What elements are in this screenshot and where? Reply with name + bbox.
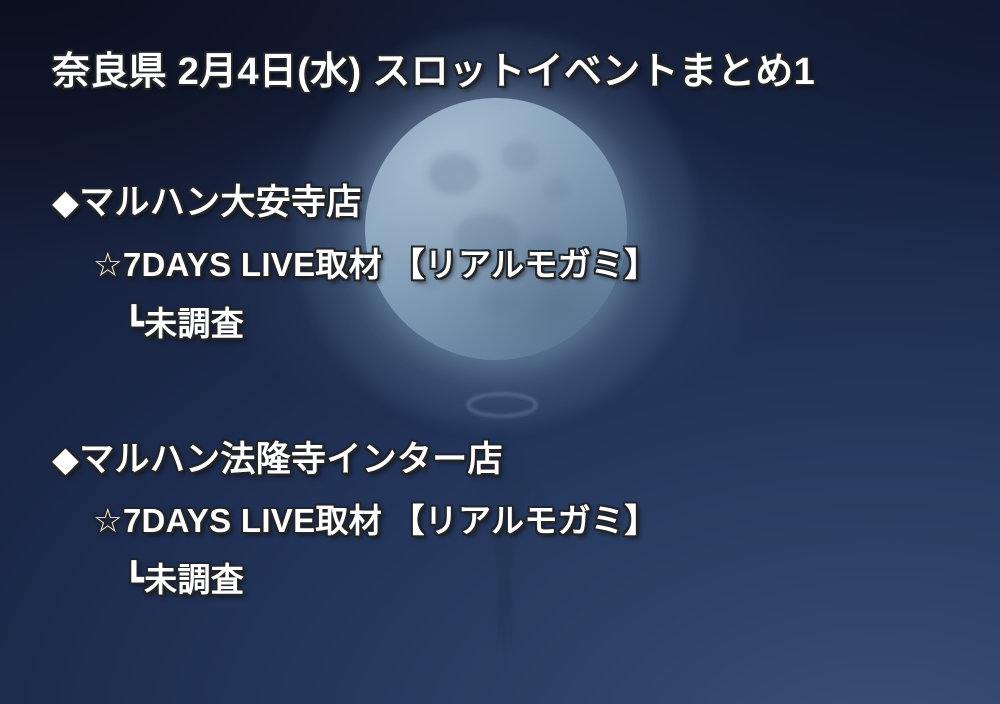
page-title: 奈良県 2月4日(水) スロットイベントまとめ1 xyxy=(52,40,815,95)
event-name-1: ☆7DAYS LIVE取材 【リアルモガミ】 xyxy=(93,238,658,286)
store-name-1: ◆マルハン大安寺店 xyxy=(52,174,362,225)
slot-event-poster: 奈良県 2月4日(水) スロットイベントまとめ1 ◆マルハン大安寺店 ☆7DAY… xyxy=(0,0,1000,704)
event-name-2: ☆7DAYS LIVE取材 【リアルモガミ】 xyxy=(93,494,658,542)
poster-text-layer: 奈良県 2月4日(水) スロットイベントまとめ1 ◆マルハン大安寺店 ☆7DAY… xyxy=(0,0,1000,704)
store-name-2: ◆マルハン法隆寺インター店 xyxy=(52,431,503,482)
investigation-status-1: ┗未調査 xyxy=(124,297,244,345)
investigation-status-2: ┗未調査 xyxy=(124,553,244,601)
